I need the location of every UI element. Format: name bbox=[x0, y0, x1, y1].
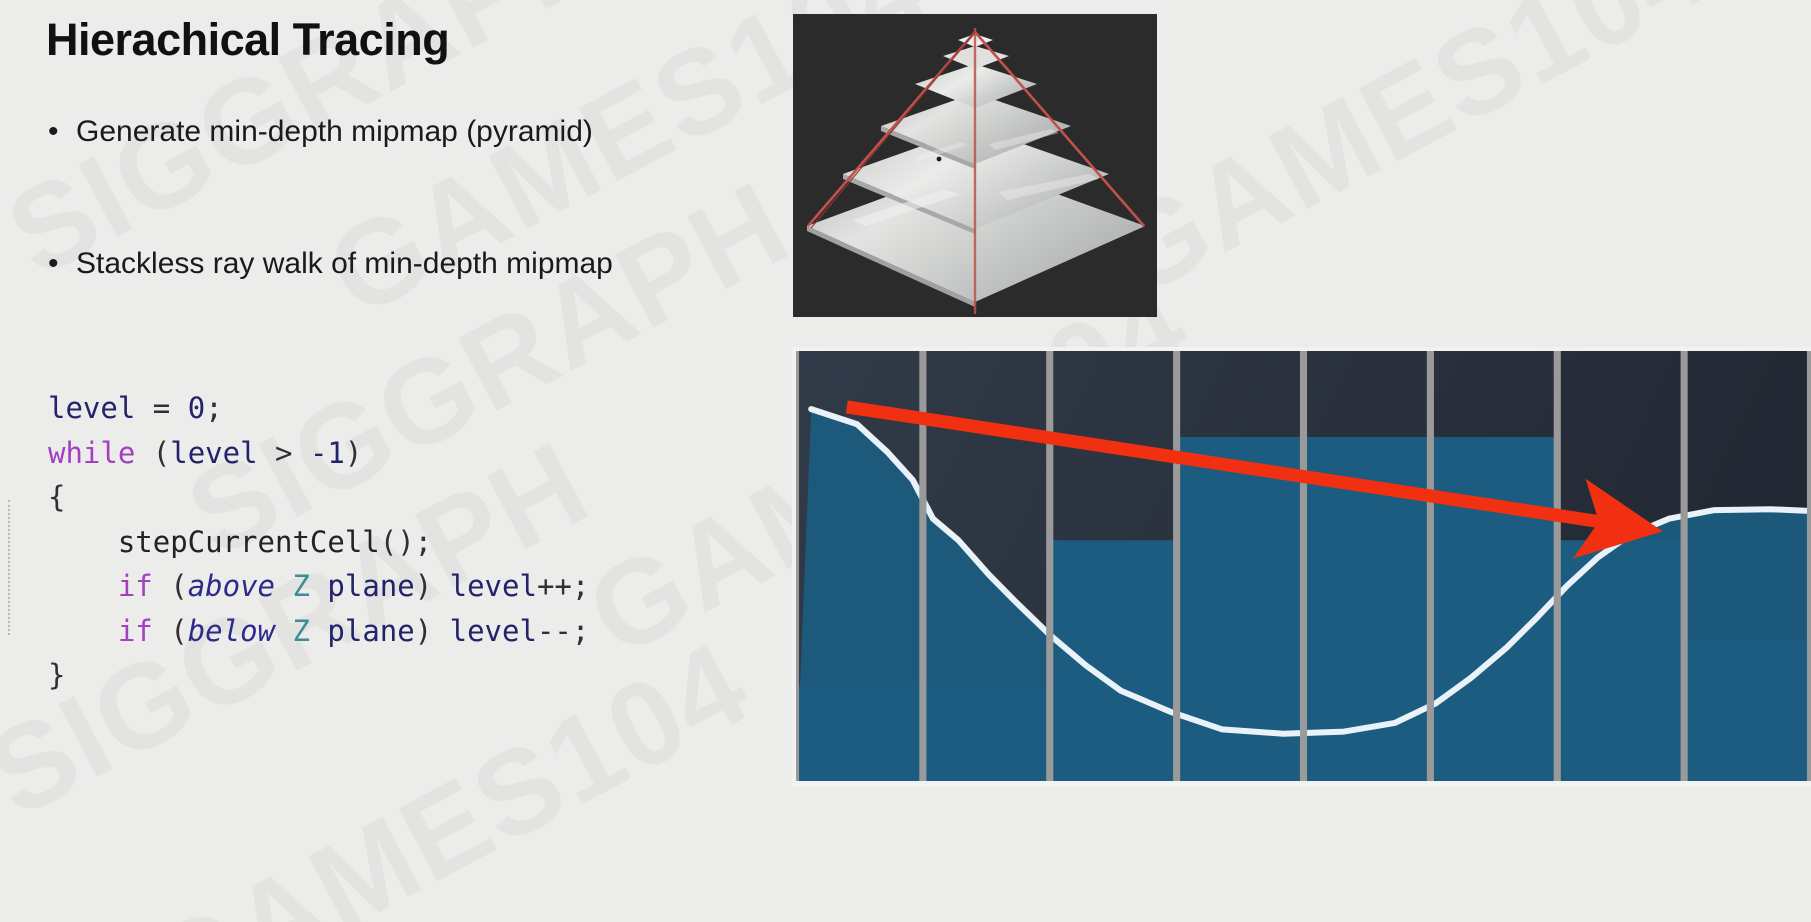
code-token: above bbox=[188, 569, 275, 603]
code-indent-guide bbox=[8, 500, 10, 635]
code-token: ) bbox=[415, 569, 450, 603]
code-line: if (above Z plane) level++; bbox=[48, 564, 589, 609]
depth-raywalk-figure bbox=[792, 347, 1811, 787]
code-token bbox=[258, 436, 275, 470]
list-item: • Generate min-depth mipmap (pyramid) bbox=[42, 112, 772, 152]
pyramid-illustration bbox=[793, 14, 1157, 317]
code-line: if (below Z plane) level--; bbox=[48, 609, 589, 654]
depth-raywalk-canvas bbox=[796, 351, 1811, 781]
code-token: ) bbox=[415, 614, 450, 648]
code-line: level = 0; bbox=[48, 386, 589, 431]
code-token bbox=[310, 569, 327, 603]
slide-left-column: Hierachical Tracing • Generate min-depth… bbox=[0, 0, 790, 922]
code-token: while bbox=[48, 436, 135, 470]
code-token: } bbox=[48, 658, 65, 692]
code-line: stepCurrentCell(); bbox=[48, 520, 589, 565]
code-token: ++; bbox=[537, 569, 589, 603]
code-line: while (level > -1) bbox=[48, 431, 589, 476]
code-line: { bbox=[48, 475, 589, 520]
code-token: ; bbox=[205, 391, 222, 425]
code-token: ) bbox=[345, 436, 362, 470]
code-token bbox=[48, 525, 118, 559]
bullet-dot-icon: • bbox=[42, 244, 76, 284]
code-token: level bbox=[450, 614, 537, 648]
code-token: below bbox=[188, 614, 275, 648]
code-token: -1 bbox=[310, 436, 345, 470]
list-item: • Stackless ray walk of min-depth mipmap bbox=[42, 244, 772, 284]
code-token: level bbox=[48, 391, 135, 425]
code-token: Z bbox=[292, 614, 309, 648]
bullet-label: Stackless ray walk of min-depth mipmap bbox=[76, 244, 613, 284]
code-token: (); bbox=[380, 525, 432, 559]
code-token bbox=[310, 614, 327, 648]
bullet-label: Generate min-depth mipmap (pyramid) bbox=[76, 112, 593, 152]
code-token: ( bbox=[153, 614, 188, 648]
watermark-text: GAMES104 bbox=[1086, 0, 1730, 324]
mipmap-pyramid-figure bbox=[793, 14, 1157, 317]
code-token: if bbox=[118, 614, 153, 648]
bullet-dot-icon: • bbox=[42, 112, 76, 152]
code-token bbox=[135, 391, 152, 425]
depth-raywalk-illustration bbox=[796, 351, 1811, 781]
code-token: plane bbox=[327, 614, 414, 648]
code-token: Z bbox=[292, 569, 309, 603]
code-token: ( bbox=[153, 569, 188, 603]
code-token: level bbox=[170, 436, 257, 470]
code-token: = bbox=[153, 391, 170, 425]
code-token: 0 bbox=[188, 391, 205, 425]
slide-canvas: SIGGRAPH GAMES104 GAMES104 SIGGRAPH GAME… bbox=[0, 0, 1811, 922]
code-token: --; bbox=[537, 614, 589, 648]
code-token: { bbox=[48, 480, 65, 514]
code-snippet: level = 0;while (level > -1){ stepCurren… bbox=[48, 386, 589, 698]
bullet-list: • Generate min-depth mipmap (pyramid) • … bbox=[42, 112, 772, 376]
code-token: if bbox=[118, 569, 153, 603]
code-token: plane bbox=[327, 569, 414, 603]
code-token: level bbox=[450, 569, 537, 603]
code-token bbox=[292, 436, 309, 470]
code-token bbox=[48, 569, 118, 603]
code-line: } bbox=[48, 653, 589, 698]
code-token bbox=[170, 391, 187, 425]
code-token bbox=[48, 614, 118, 648]
page-title: Hierachical Tracing bbox=[46, 14, 449, 66]
code-token bbox=[275, 569, 292, 603]
code-token bbox=[275, 614, 292, 648]
code-token: > bbox=[275, 436, 292, 470]
code-token: stepCurrentCell bbox=[118, 525, 380, 559]
code-token: ( bbox=[135, 436, 170, 470]
